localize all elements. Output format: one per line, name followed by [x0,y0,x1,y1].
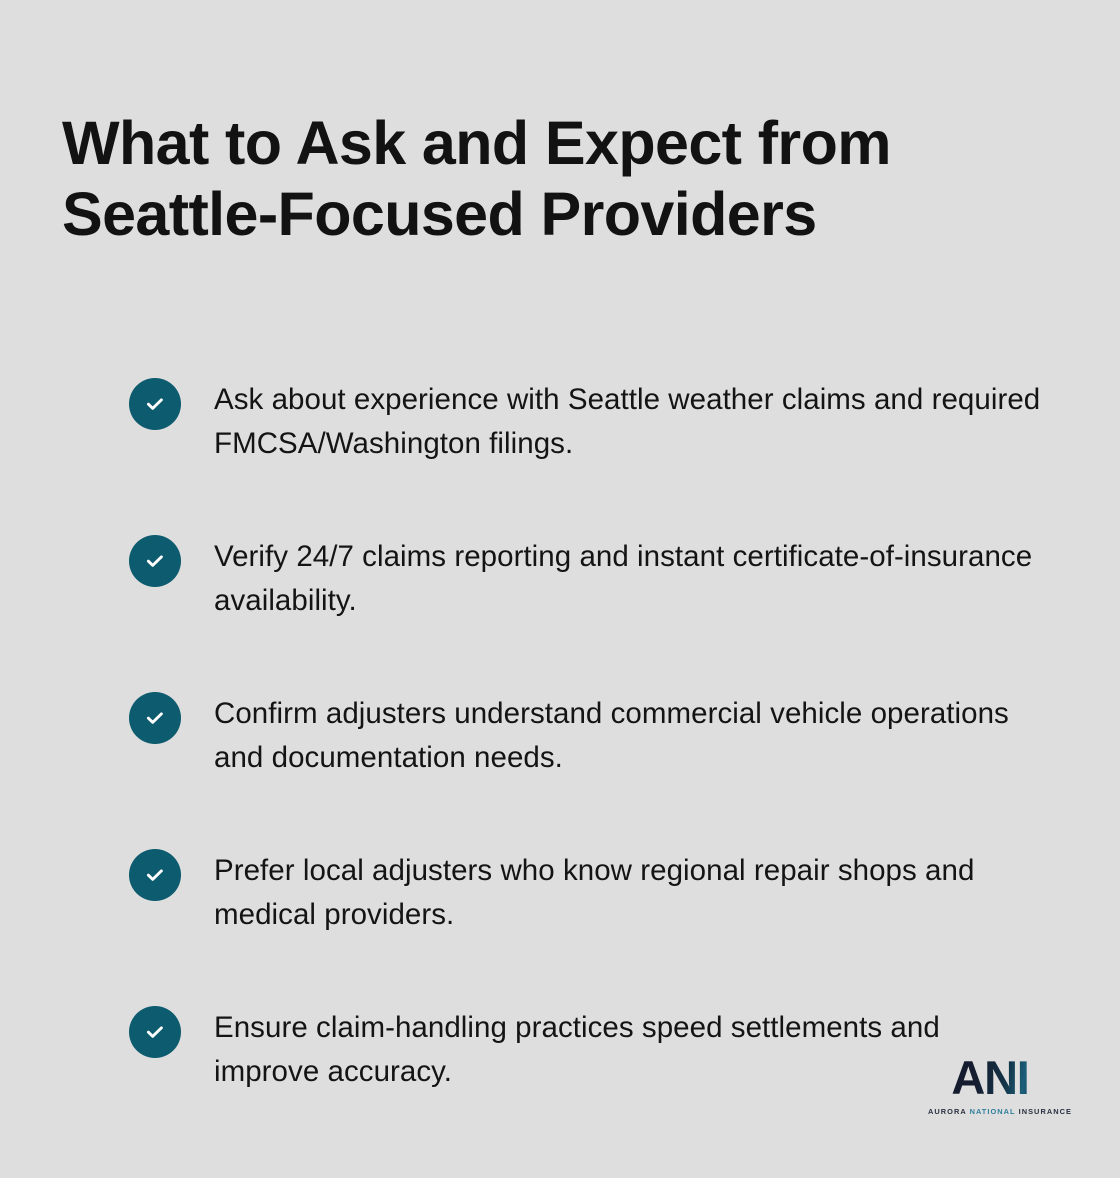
brand-logo: ANI AURORA NATIONAL INSURANCE [928,1056,1052,1116]
list-item-label: Ask about experience with Seattle weathe… [214,378,1049,466]
tagline-word-national: NATIONAL [970,1107,1016,1116]
brand-logo-tagline: AURORA NATIONAL INSURANCE [928,1107,1052,1116]
list-item-label: Confirm adjusters understand commercial … [214,692,1049,780]
page-title-line-1: What to Ask and Expect from [62,108,1042,179]
list-item-label: Verify 24/7 claims reporting and instant… [214,535,1049,623]
check-circle-icon [129,535,181,587]
tagline-word-aurora: AURORA [928,1107,970,1116]
list-item: Ask about experience with Seattle weathe… [129,378,1059,466]
page-title-line-2: Seattle-Focused Providers [62,179,1042,250]
list-item: Verify 24/7 claims reporting and instant… [129,535,1059,623]
tagline-word-insurance: INSURANCE [1015,1107,1072,1116]
brand-logo-mark: ANI [928,1056,1052,1100]
checklist: Ask about experience with Seattle weathe… [129,385,1059,1094]
list-item: Prefer local adjusters who know regional… [129,849,1059,937]
list-item: Confirm adjusters understand commercial … [129,692,1059,780]
check-circle-icon [129,1006,181,1058]
list-item-label: Prefer local adjusters who know regional… [214,849,1049,937]
page-title: What to Ask and Expect from Seattle-Focu… [62,108,1042,251]
check-circle-icon [129,378,181,430]
infographic-canvas: What to Ask and Expect from Seattle-Focu… [0,0,1120,1178]
check-circle-icon [129,849,181,901]
list-item-label: Ensure claim-handling practices speed se… [214,1006,1049,1094]
list-item: Ensure claim-handling practices speed se… [129,1006,1059,1094]
check-circle-icon [129,692,181,744]
